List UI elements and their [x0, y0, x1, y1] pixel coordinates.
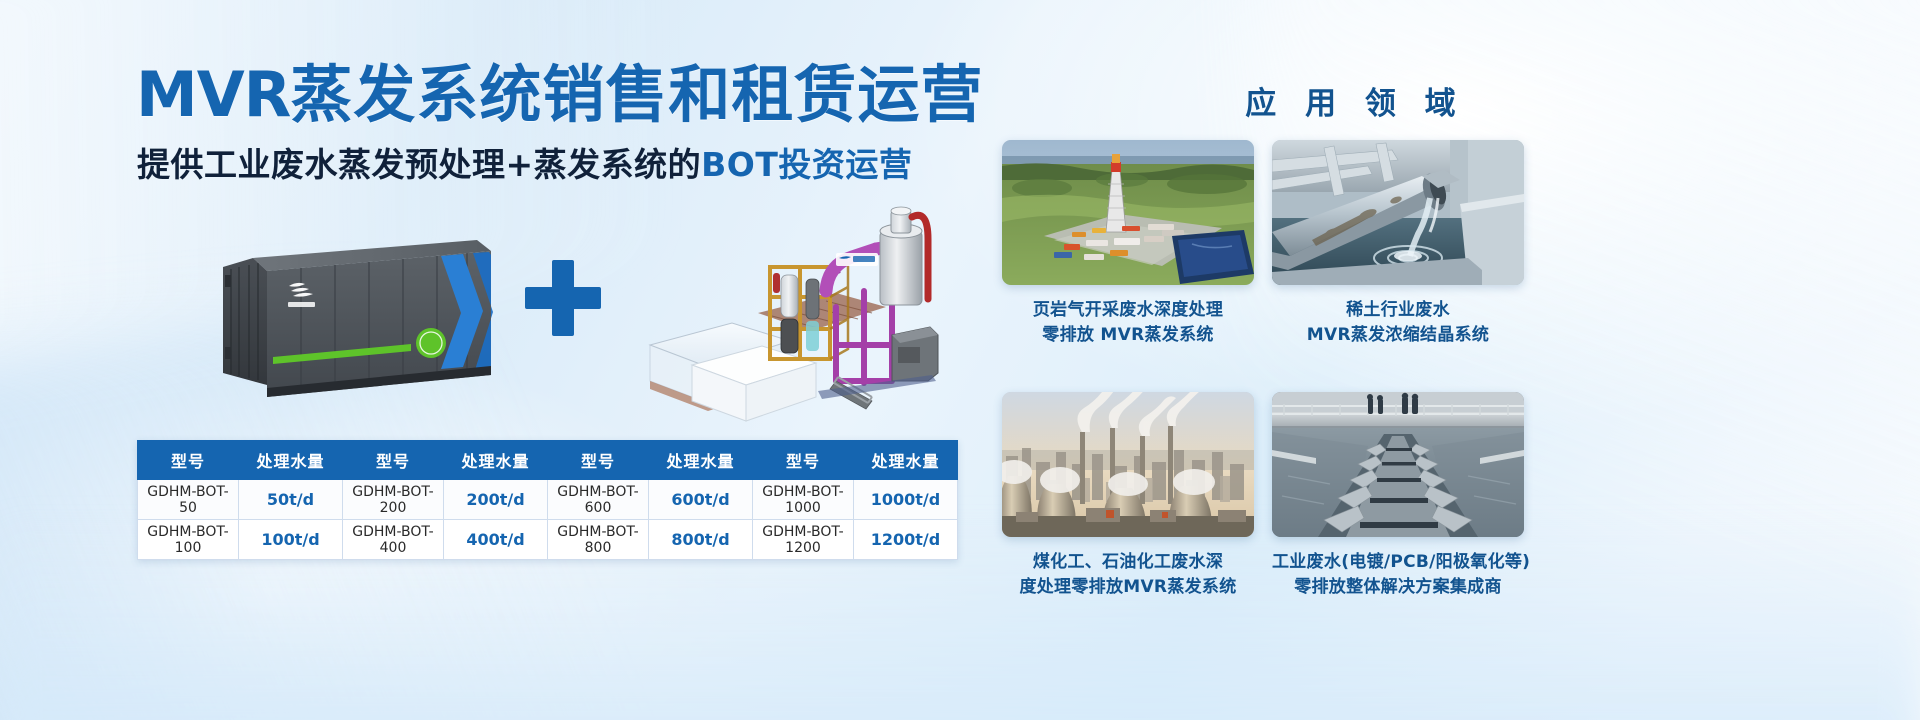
table-cell-capacity: 200t/d: [444, 480, 548, 520]
equipment-brand-label: [836, 253, 878, 266]
wastewater-discharge-pipe-photo: [1272, 140, 1524, 285]
application-caption: 稀土行业废水 MVR蒸发浓缩结晶系统: [1272, 298, 1524, 347]
application-caption-line1: 煤化工、石油化工废水深: [1002, 550, 1254, 575]
banner-subtitle-plain: 提供工业废水蒸发预处理+蒸发系统的: [137, 145, 701, 184]
table-cell-capacity: 800t/d: [649, 520, 753, 560]
marketing-banner: MVR蒸发系统销售和租赁运营 提供工业废水蒸发预处理+蒸发系统的BOT投资运营: [0, 0, 1920, 720]
left-content-panel: MVR蒸发系统销售和租赁运营 提供工业废水蒸发预处理+蒸发系统的BOT投资运营: [0, 0, 1010, 720]
application-card[interactable]: 页岩气开采废水深度处理 零排放 MVR蒸发系统: [1002, 140, 1254, 347]
table-cell-capacity: 600t/d: [649, 480, 753, 520]
table-cell-model: GDHM-BOT-600: [548, 480, 649, 520]
banner-title: MVR蒸发系统销售和租赁运营: [136, 64, 983, 126]
table-cell-capacity: 1200t/d: [854, 520, 958, 560]
chemical-plant-cooling-towers-photo: [1002, 392, 1254, 537]
table-cell-capacity: 400t/d: [444, 520, 548, 560]
table-cell-model: GDHM-BOT-400: [343, 520, 444, 560]
banner-subtitle: 提供工业废水蒸发预处理+蒸发系统的BOT投资运营: [137, 148, 912, 181]
application-caption-line2: MVR蒸发浓缩结晶系统: [1272, 323, 1524, 348]
spec-table-wrapper: 型号 处理水量 型号 处理水量 型号 处理水量 型号 处理水量 GDHM-BOT…: [137, 440, 957, 560]
container-pretreatment-unit-image: [205, 225, 505, 415]
banner-title-rest: 蒸发系统销售和租赁运营: [290, 58, 983, 131]
table-header-cell: 处理水量: [444, 441, 548, 480]
plus-symbol-icon: [525, 260, 601, 336]
applications-grid: 页岩气开采废水深度处理 零排放 MVR蒸发系统: [1000, 140, 1760, 690]
table-header-cell: 处理水量: [649, 441, 753, 480]
table-header-cell: 型号: [548, 441, 649, 480]
table-cell-model: GDHM-BOT-50: [138, 480, 239, 520]
application-caption-line1: 页岩气开采废水深度处理: [1002, 298, 1254, 323]
spec-table: 型号 处理水量 型号 处理水量 型号 处理水量 型号 处理水量 GDHM-BOT…: [137, 440, 958, 560]
table-cell-model: GDHM-BOT-800: [548, 520, 649, 560]
sedimentation-basin-photo: [1272, 392, 1524, 537]
application-caption-line1: 稀土行业废水: [1272, 298, 1524, 323]
table-header-cell: 处理水量: [239, 441, 343, 480]
application-caption-line2: 度处理零排放MVR蒸发系统: [1002, 575, 1254, 600]
table-row: GDHM-BOT-50 50t/d GDHM-BOT-200 200t/d GD…: [138, 480, 958, 520]
table-cell-model: GDHM-BOT-1200: [753, 520, 854, 560]
table-row: GDHM-BOT-100 100t/d GDHM-BOT-400 400t/d …: [138, 520, 958, 560]
table-header-cell: 处理水量: [854, 441, 958, 480]
application-card[interactable]: 煤化工、石油化工废水深 度处理零排放MVR蒸发系统: [1002, 392, 1254, 599]
application-caption: 页岩气开采废水深度处理 零排放 MVR蒸发系统: [1002, 298, 1254, 347]
table-cell-model: GDHM-BOT-100: [138, 520, 239, 560]
table-header-cell: 型号: [343, 441, 444, 480]
application-caption-line2: 零排放整体解决方案集成商: [1272, 575, 1524, 600]
table-cell-capacity: 50t/d: [239, 480, 343, 520]
shale-gas-drilling-site-photo: [1002, 140, 1254, 285]
application-caption: 煤化工、石油化工废水深 度处理零排放MVR蒸发系统: [1002, 550, 1254, 599]
banner-subtitle-highlight: BOT投资运营: [701, 145, 912, 184]
application-caption-line1: 工业废水(电镀/PCB/阳极氧化等): [1272, 550, 1524, 575]
table-header-cell: 型号: [753, 441, 854, 480]
application-card[interactable]: 稀土行业废水 MVR蒸发浓缩结晶系统: [1272, 140, 1524, 347]
skid-mounted-mvr-evaporator-image: [640, 195, 940, 430]
table-header-cell: 型号: [138, 441, 239, 480]
table-cell-capacity: 100t/d: [239, 520, 343, 560]
table-cell-capacity: 1000t/d: [854, 480, 958, 520]
application-caption: 工业废水(电镀/PCB/阳极氧化等) 零排放整体解决方案集成商: [1272, 550, 1524, 599]
applications-heading: 应 用 领 域: [1140, 78, 1570, 123]
application-card[interactable]: 工业废水(电镀/PCB/阳极氧化等) 零排放整体解决方案集成商: [1272, 392, 1524, 599]
table-header-row: 型号 处理水量 型号 处理水量 型号 处理水量 型号 处理水量: [138, 441, 958, 480]
table-cell-model: GDHM-BOT-200: [343, 480, 444, 520]
table-cell-model: GDHM-BOT-1000: [753, 480, 854, 520]
banner-title-mvr: MVR: [136, 58, 290, 131]
application-caption-line2: 零排放 MVR蒸发系统: [1002, 323, 1254, 348]
